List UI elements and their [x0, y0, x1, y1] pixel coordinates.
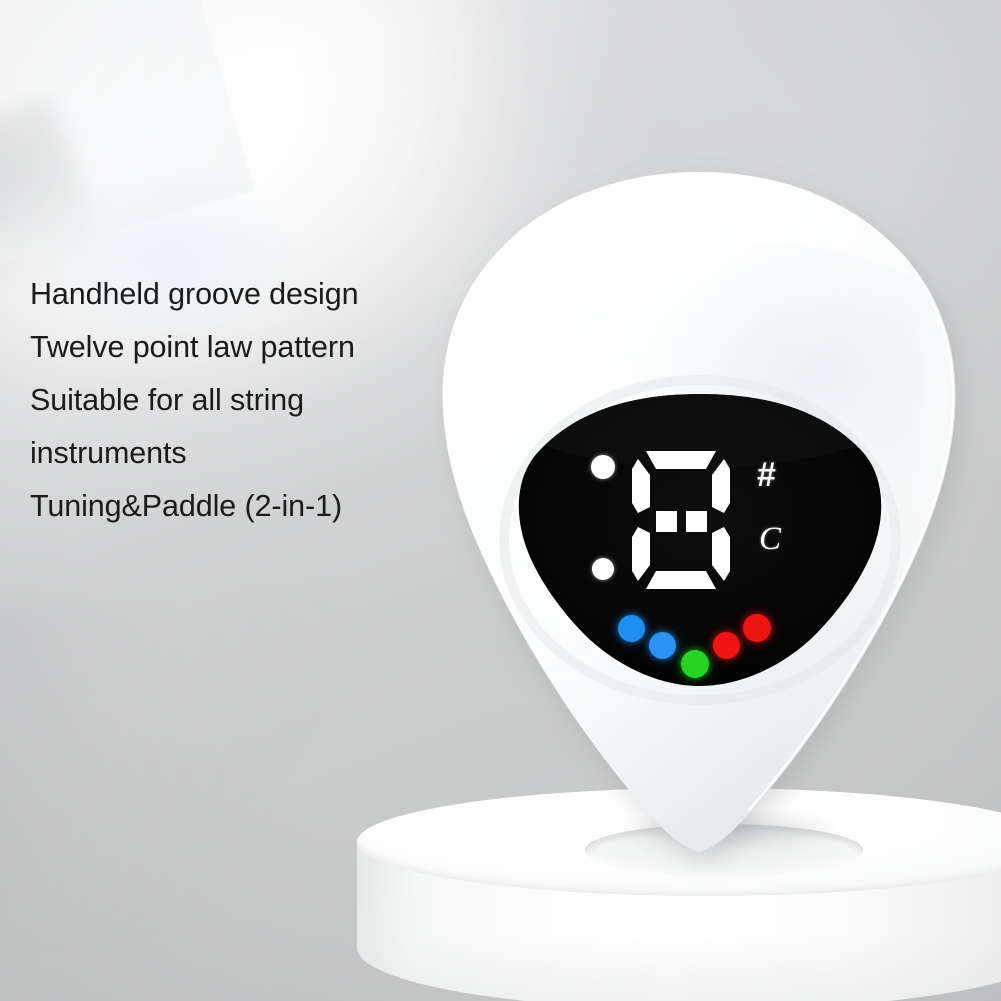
feature-line-2: Twelve point law pattern	[30, 321, 430, 374]
feature-line-3: Suitable for all string	[30, 374, 430, 427]
product-photo-scene: Handheld groove design Twelve point law …	[0, 0, 1001, 1001]
feature-line-4: instruments	[30, 427, 430, 480]
feature-line-1: Handheld groove design	[30, 268, 430, 321]
guitar-pick-tuner: # C	[432, 168, 966, 858]
feature-text-block: Handheld groove design Twelve point law …	[30, 268, 430, 533]
feature-line-5: Tuning&Paddle (2-in-1)	[30, 480, 430, 533]
